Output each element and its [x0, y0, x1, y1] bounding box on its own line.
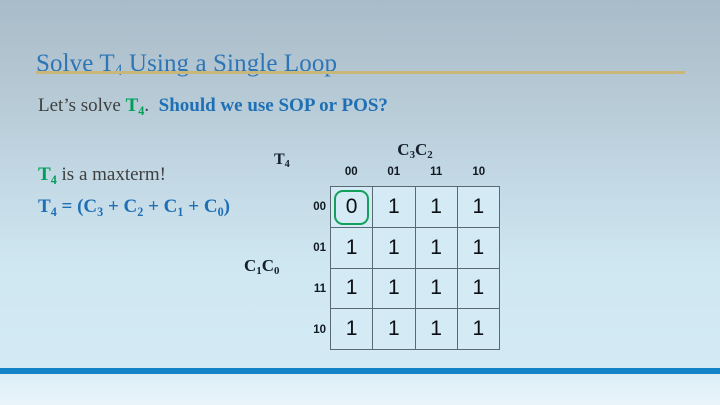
eq-lhs-sub: 4 — [51, 205, 57, 219]
lets-solve-text: Let’s solve — [38, 95, 126, 116]
kmap-row-header-2: 11 — [296, 268, 326, 309]
t4-green-label-2: T4 — [38, 164, 57, 185]
kmap-cell: 1 — [331, 309, 372, 349]
slide: Solve T4 Using a Single Loop Let’s solve… — [0, 0, 720, 405]
kmap-row-headers: 00 01 11 10 — [296, 186, 326, 350]
kmap-column-variable-label: C3C2 — [330, 140, 500, 160]
t-letter: T — [126, 95, 139, 116]
kmap-row-header-0: 00 — [296, 186, 326, 227]
kmap-grid: 0 1 1 1 1 1 1 1 1 1 1 1 1 1 1 1 — [330, 186, 500, 350]
t-subscript-2: 4 — [51, 173, 57, 187]
body-line-question: Let’s solve T4. Should we use SOP or POS… — [38, 95, 388, 117]
c0-subscript: 0 — [274, 265, 279, 277]
kmap-col-header-2: 11 — [415, 166, 458, 178]
c1-letter: C — [244, 256, 256, 275]
kmap-cell: 1 — [458, 269, 499, 309]
c3-subscript: 3 — [410, 149, 415, 161]
eq-operator: = (C — [57, 196, 97, 217]
kmap-cell: 1 — [373, 187, 414, 227]
t-subscript: 4 — [138, 104, 144, 118]
kmap-cell: 1 — [416, 228, 457, 268]
c0-letter: C — [262, 256, 274, 275]
kmap-cell: 1 — [416, 269, 457, 309]
body-line-maxterm: T4 is a maxterm! — [38, 164, 166, 186]
eq-close-paren: ) — [224, 196, 230, 217]
kmap-title-letter: T — [274, 151, 285, 168]
kmap-cell: 1 — [416, 187, 457, 227]
t-letter-2: T — [38, 164, 51, 185]
c3-letter: C — [397, 140, 409, 159]
eq-lhs: T — [38, 196, 51, 217]
kmap-row-variable-label: C1C0 — [244, 256, 279, 276]
t4-green-label: T4 — [126, 95, 145, 116]
kmap-cell: 1 — [331, 228, 372, 268]
kmap-col-header-3: 10 — [458, 166, 501, 178]
kmap-col-header-1: 01 — [373, 166, 416, 178]
period-text: . — [144, 95, 149, 116]
eq-sub-1: 1 — [177, 205, 183, 219]
title-divider — [36, 71, 685, 74]
eq-plus-3: + C — [184, 196, 218, 217]
kmap-cell: 1 — [331, 269, 372, 309]
c2-letter: C — [415, 140, 427, 159]
eq-plus-1: + C — [103, 196, 137, 217]
footer: ECE 120: Introduction to Computing © 201… — [0, 374, 720, 405]
body-line-equation: T4 = (C3 + C2 + C1 + C0) — [38, 196, 230, 218]
kmap-cell: 1 — [373, 309, 414, 349]
c1-subscript: 1 — [256, 265, 261, 277]
kmap-title-subscript: 4 — [285, 159, 290, 170]
kmap-row-header-1: 01 — [296, 227, 326, 268]
eq-sub-2: 2 — [137, 205, 143, 219]
c2-subscript: 2 — [427, 149, 432, 161]
kmap-cell: 1 — [373, 269, 414, 309]
kmap-title-label: T4 — [274, 151, 290, 169]
kmap-column-headers: 00 01 11 10 — [330, 166, 500, 178]
sop-pos-question: Should we use SOP or POS? — [159, 95, 388, 116]
kmap-cell: 1 — [458, 228, 499, 268]
eq-sub-0: 0 — [218, 205, 224, 219]
maxterm-text: is a maxterm! — [57, 164, 166, 185]
kmap-cell: 1 — [458, 187, 499, 227]
kmap-row-header-3: 10 — [296, 309, 326, 350]
eq-sub-3: 3 — [97, 205, 103, 219]
eq-plus-2: + C — [143, 196, 177, 217]
kmap-cell: 1 — [458, 309, 499, 349]
kmap-cell: 1 — [416, 309, 457, 349]
kmap-cell: 1 — [373, 228, 414, 268]
kmap-col-header-0: 00 — [330, 166, 373, 178]
kmap-cell: 0 — [331, 187, 372, 227]
